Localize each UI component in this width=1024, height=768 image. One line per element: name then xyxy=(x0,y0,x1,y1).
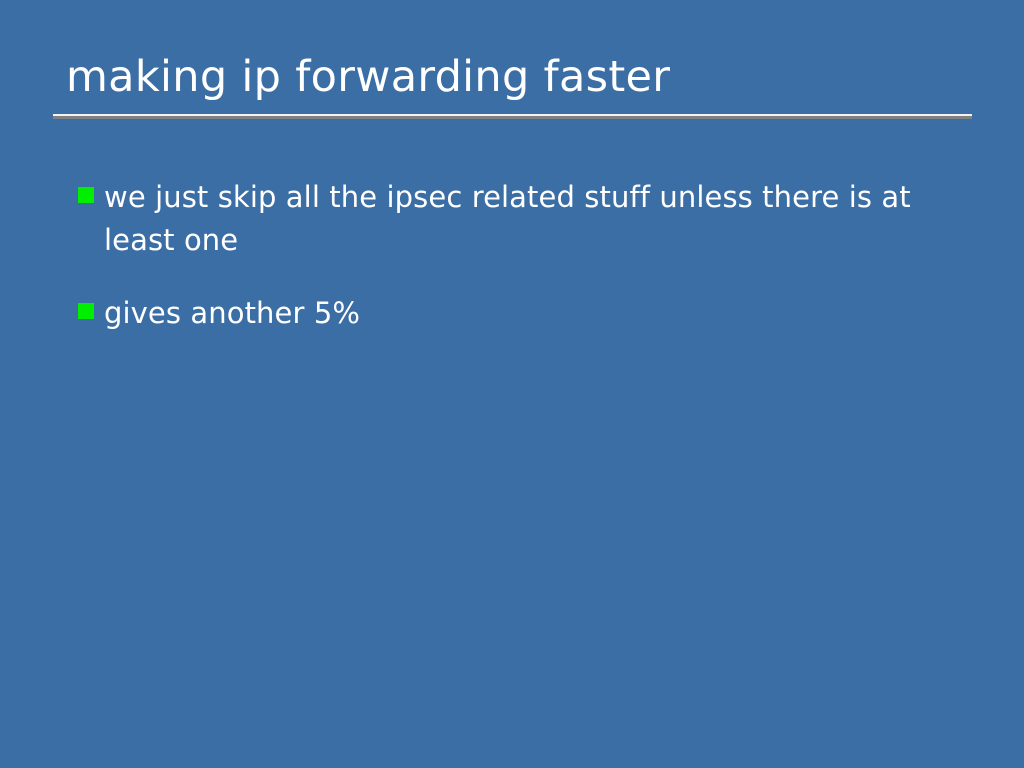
list-item: gives another 5% xyxy=(78,292,958,335)
bullet-list: we just skip all the ipsec related stuff… xyxy=(78,176,958,335)
green-square-bullet-icon xyxy=(78,187,94,203)
rule-shadow-edge xyxy=(53,116,972,119)
title-block: making ip forwarding faster xyxy=(53,52,972,102)
list-item-label: gives another 5% xyxy=(104,292,932,335)
page-title: making ip forwarding faster xyxy=(53,52,972,102)
list-item: we just skip all the ipsec related stuff… xyxy=(78,176,958,262)
list-item-label: we just skip all the ipsec related stuff… xyxy=(104,176,932,262)
green-square-bullet-icon xyxy=(78,303,94,319)
presentation-slide: making ip forwarding faster we just skip… xyxy=(0,0,1024,768)
title-underline-rule xyxy=(53,114,972,119)
